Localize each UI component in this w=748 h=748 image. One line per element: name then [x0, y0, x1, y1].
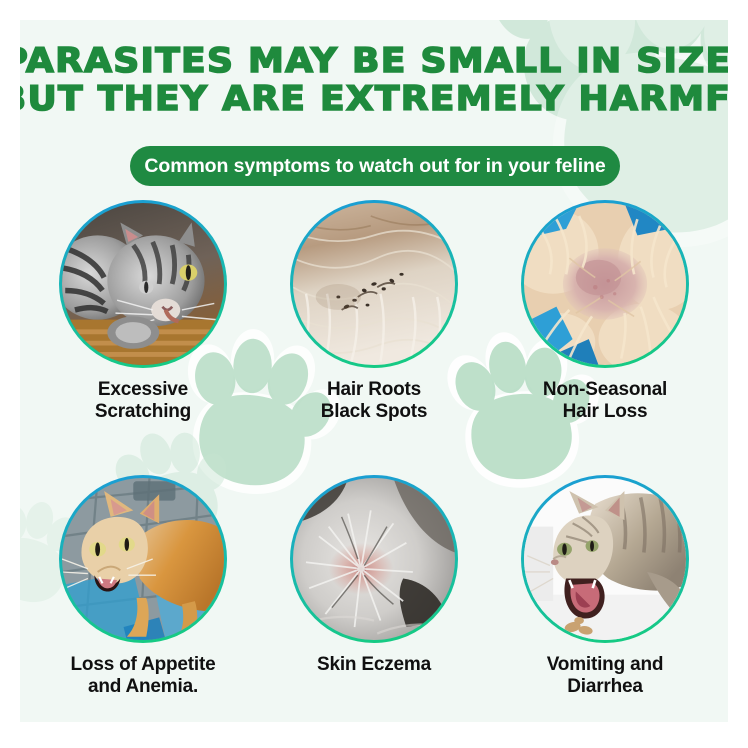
symptom-card-skin-eczema: Skin Eczema [264, 475, 484, 698]
caption-line-2: Scratching [95, 401, 191, 423]
photo-ring [59, 200, 227, 368]
symptom-caption: Loss of Appetite and Anemia. [71, 654, 216, 698]
photo-ring [290, 475, 458, 643]
photo-ring [290, 200, 458, 368]
caption-line-1: Non-Seasonal [543, 379, 667, 400]
photo-gray-tabby-cat-scratching [62, 203, 224, 365]
title-line-2: but they are extremely harmful [20, 80, 728, 118]
caption-line-1: Skin Eczema [317, 654, 431, 675]
symptom-caption: Excessive Scratching [95, 379, 191, 423]
title-line-1: Parasites may be small in size, [20, 42, 728, 80]
photo-bald-patch-hair-loss [524, 203, 686, 365]
symptom-caption: Non-Seasonal Hair Loss [543, 379, 667, 423]
photo-ring [521, 200, 689, 368]
photo-ring [521, 475, 689, 643]
infographic-poster: Parasites may be small in size, but they… [20, 20, 728, 722]
caption-line-1: Vomiting and [547, 654, 664, 675]
photo-cream-fur-black-specks [293, 203, 455, 365]
symptom-card-excessive-scratching: Excessive Scratching [33, 200, 253, 423]
caption-line-2: Black Spots [321, 401, 428, 423]
symptom-card-vomiting-diarrhea: Vomiting and Diarrhea [495, 475, 715, 698]
symptom-card-loss-of-appetite: Loss of Appetite and Anemia. [33, 475, 253, 698]
subtitle-banner: Common symptoms to watch out for in your… [130, 146, 620, 186]
symptom-caption: Skin Eczema [317, 654, 431, 676]
symptom-caption: Hair Roots Black Spots [321, 379, 428, 423]
caption-line-2: Diarrhea [547, 676, 664, 698]
symptom-card-non-seasonal-hair-loss: Non-Seasonal Hair Loss [495, 200, 715, 423]
poster-title: Parasites may be small in size, but they… [20, 42, 728, 118]
caption-line-2: Hair Loss [543, 401, 667, 423]
symptom-card-hair-roots-black-spots: Hair Roots Black Spots [264, 200, 484, 423]
subtitle-text: Common symptoms to watch out for in your… [144, 155, 605, 178]
photo-thin-ginger-cat-meowing [62, 478, 224, 640]
caption-line-1: Excessive [98, 379, 188, 400]
caption-line-2: and Anemia. [71, 676, 216, 698]
symptom-grid: Excessive Scratching [20, 200, 728, 698]
photo-ring [59, 475, 227, 643]
photo-tabby-cat-vomiting [524, 478, 686, 640]
photo-grey-fur-eczema-spot [293, 478, 455, 640]
symptom-row-top: Excessive Scratching [20, 200, 728, 423]
symptom-row-bottom: Loss of Appetite and Anemia. [20, 475, 728, 698]
caption-line-1: Hair Roots [327, 379, 421, 400]
caption-line-1: Loss of Appetite [71, 654, 216, 675]
symptom-caption: Vomiting and Diarrhea [547, 654, 664, 698]
